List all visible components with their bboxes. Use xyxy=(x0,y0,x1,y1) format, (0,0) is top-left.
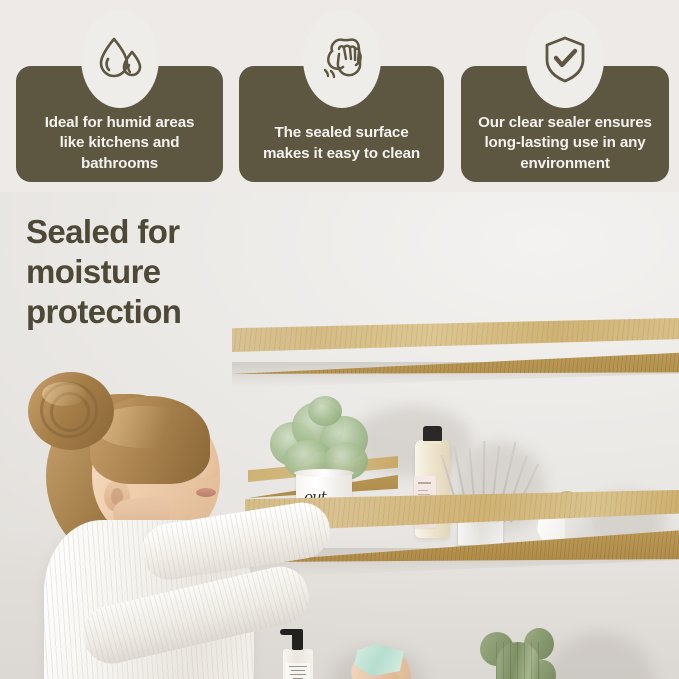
feature-card-clear-sealer[interactable]: Our clear sealer ensures long-lasting us… xyxy=(461,66,669,182)
card-line-1: Ideal for humid areas xyxy=(22,113,217,134)
water-drop-icon xyxy=(81,10,159,108)
spray-bottle xyxy=(340,644,402,679)
feature-card-text: Our clear sealer ensures long-lasting us… xyxy=(467,113,663,175)
page-headline: Sealed for moisture protection xyxy=(26,212,241,332)
feature-card-text: The sealed surface makes it easy to clea… xyxy=(245,123,438,164)
feature-card-easy-to-clean[interactable]: The sealed surface makes it easy to clea… xyxy=(239,66,444,182)
hair-bun xyxy=(28,372,114,450)
card-line-3: environment xyxy=(467,154,663,175)
card-line-2: makes it easy to clean xyxy=(245,144,438,165)
infographic-root: out xyxy=(0,0,679,679)
cactus-body xyxy=(496,642,540,679)
spray-head xyxy=(352,644,404,679)
card-line-2: long-lasting use in any xyxy=(467,133,663,154)
lips xyxy=(196,488,216,497)
card-line-3: bathrooms xyxy=(22,154,217,175)
card-line-1: Our clear sealer ensures xyxy=(467,113,663,134)
feature-card-text: Ideal for humid areas like kitchens and … xyxy=(22,113,217,175)
hand-wiping-cloth-icon xyxy=(303,10,381,108)
bottle-cap xyxy=(423,426,442,441)
headline-line-3: protection xyxy=(26,292,241,332)
headline-line-1: Sealed for xyxy=(26,212,241,252)
child-model xyxy=(0,360,324,679)
card-line-1: The sealed surface xyxy=(245,123,438,144)
feature-card-humid-areas[interactable]: Ideal for humid areas like kitchens and … xyxy=(16,66,223,182)
shield-check-icon xyxy=(526,10,604,108)
headline-line-2: moisture xyxy=(26,252,241,292)
cactus-plant xyxy=(478,626,558,679)
card-line-2: like kitchens and xyxy=(22,133,217,154)
